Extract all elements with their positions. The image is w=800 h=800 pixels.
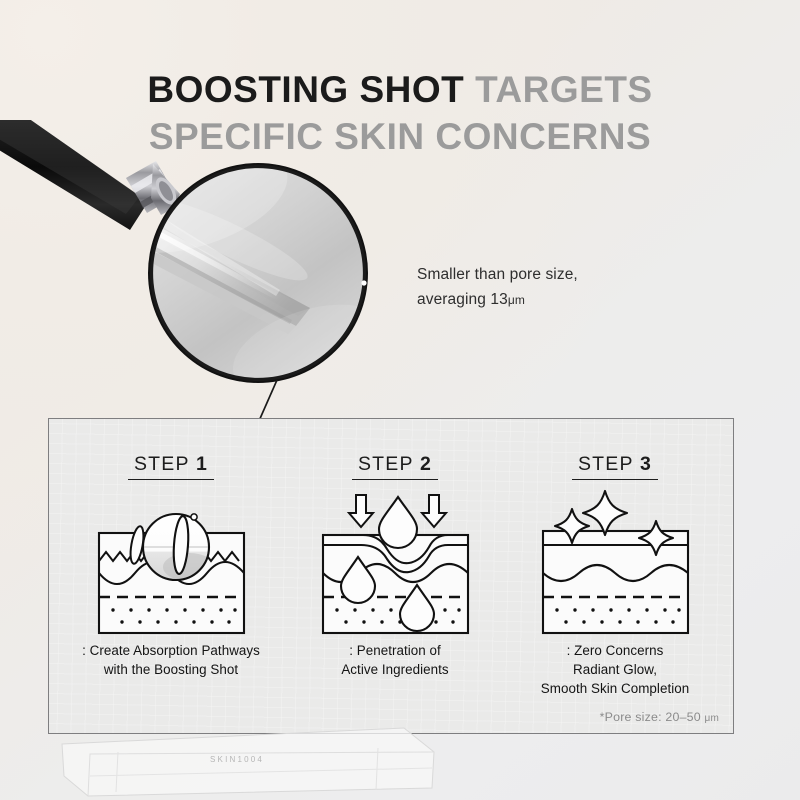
step-2-title: STEP 2 [281, 453, 509, 476]
step-1: STEP 1 [57, 419, 285, 735]
step-3-label: STEP [578, 453, 633, 475]
step-2-skin-diagram [281, 481, 509, 641]
step-2-caption-line-2: Active Ingredients [275, 660, 515, 679]
footnote-text: *Pore size: 20–50 [600, 710, 701, 724]
infographic-canvas: BOOSTING SHOT TARGETS SPECIFIC SKIN CONC… [0, 0, 800, 800]
step-1-caption-line-2: with the Boosting Shot [51, 660, 291, 679]
step-2-number: 2 [420, 453, 432, 475]
step-3-number: 3 [640, 453, 652, 475]
brand-watermark-text: SKIN1004 [210, 755, 264, 764]
step-3-skin-block [543, 531, 688, 633]
step-3-title: STEP 3 [501, 453, 729, 476]
step-3-caption: : Zero Concerns Radiant Glow, Smooth Ski… [491, 641, 739, 698]
footnote-unit: μm [705, 713, 720, 724]
note-line-1: Smaller than pore size, [417, 262, 578, 287]
product-box-watermark: SKIN1004 [60, 726, 440, 800]
step-1-skin-diagram [57, 481, 285, 641]
step-2-caption-line-1: : Penetration of [275, 641, 515, 660]
note-averaging-text: averaging 13 [417, 291, 508, 308]
headline-line-1: BOOSTING SHOT TARGETS [0, 66, 800, 113]
step-3: STEP 3 [501, 419, 729, 735]
step-3-caption-line-1: : Zero Concerns [491, 641, 739, 660]
step-1-label: STEP [134, 453, 189, 475]
note-unit: μm [508, 293, 525, 307]
step-1-caption: : Create Absorption Pathways with the Bo… [51, 641, 291, 679]
step-2-label: STEP [358, 453, 413, 475]
step-2: STEP 2 [281, 419, 509, 735]
step-3-skin-diagram [501, 481, 729, 641]
pore-size-footnote: *Pore size: 20–50 μm [600, 710, 719, 724]
steps-panel: STEP 1 [48, 418, 734, 734]
step-3-caption-line-2: Radiant Glow, [491, 660, 739, 679]
headline-brand-phrase: BOOSTING SHOT [147, 69, 464, 110]
headline-targets-word: TARGETS [475, 69, 653, 110]
pore-size-note: Smaller than pore size, averaging 13μm [417, 262, 578, 313]
step-1-number: 1 [196, 453, 208, 475]
step-1-caption-line-1: : Create Absorption Pathways [51, 641, 291, 660]
step-2-caption: : Penetration of Active Ingredients [275, 641, 515, 679]
step-3-caption-line-3: Smooth Skin Completion [491, 679, 739, 698]
step-1-title: STEP 1 [57, 453, 285, 476]
note-line-2: averaging 13μm [417, 287, 578, 313]
magnifier-handle [0, 120, 148, 230]
